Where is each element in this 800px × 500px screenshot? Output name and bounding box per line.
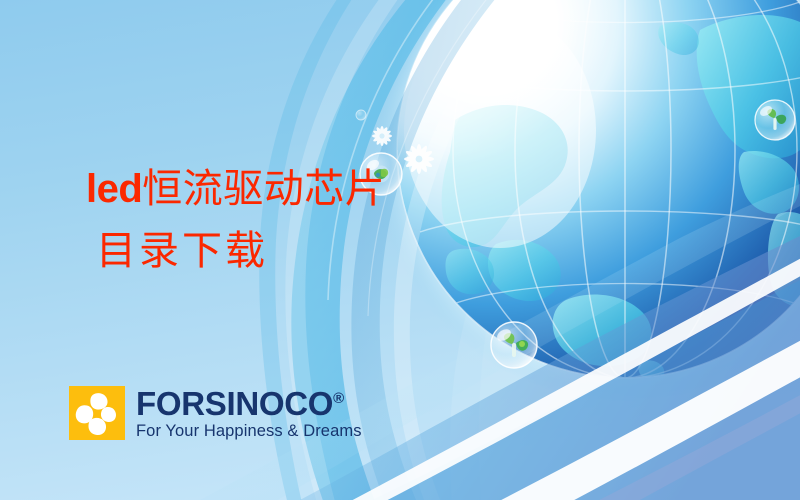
pinwheel-icon <box>69 386 125 440</box>
bubble-leaf-icon <box>755 100 795 140</box>
forsinoco-logo[interactable]: FORSINOCO® For Your Happiness & Dreams <box>69 386 362 440</box>
logo-text-block: FORSINOCO® For Your Happiness & Dreams <box>136 387 362 440</box>
registered-trademark-icon: ® <box>333 390 344 407</box>
forsinoco-pinwheel-mark <box>69 386 125 440</box>
logo-wordmark-text: FORSINOCO <box>136 385 333 422</box>
bubble-tiny <box>356 110 366 120</box>
promo-banner: led恒流驱动芯片 目录下载 FORSINOCO® For Your Happi… <box>0 0 800 500</box>
bubble-sprout-icon <box>491 322 537 368</box>
logo-wordmark: FORSINOCO® <box>136 387 362 420</box>
logo-tagline: For Your Happiness & Dreams <box>136 422 362 440</box>
bubble-globe-icon <box>360 153 402 195</box>
